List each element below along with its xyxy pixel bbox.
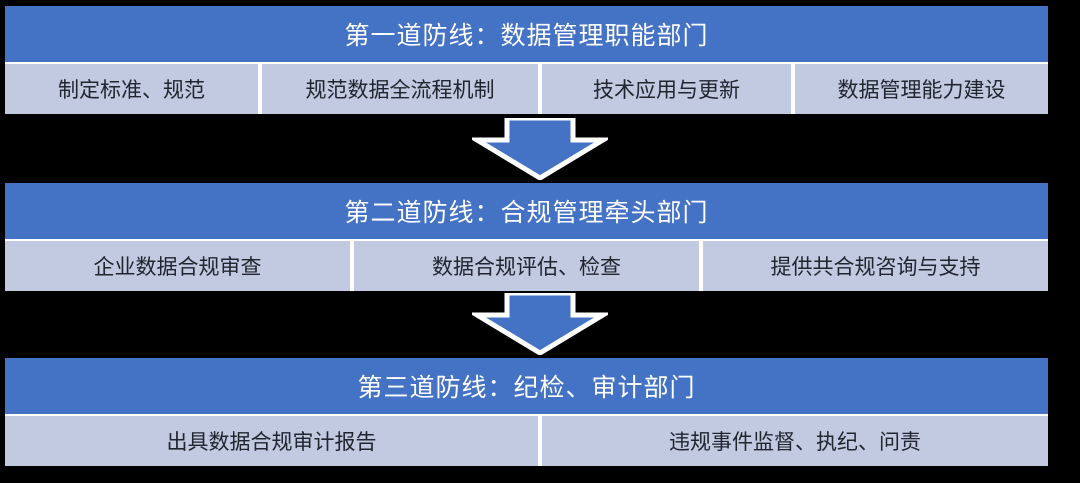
item-issue-data-compliance-audit-report: 出具数据合规审计报告 bbox=[5, 416, 538, 466]
defense-line-3-items: 出具数据合规审计报告 违规事件监督、执纪、问责 bbox=[5, 414, 1048, 466]
arrow-down-icon-1 bbox=[472, 118, 608, 180]
diagram-canvas: 第一道防线：数据管理职能部门 制定标准、规范 规范数据全流程机制 技术应用与更新… bbox=[0, 0, 1080, 483]
defense-line-2-items: 企业数据合规审查 数据合规评估、检查 提供共合规咨询与支持 bbox=[5, 239, 1048, 291]
defense-line-2-band: 第二道防线：合规管理牵头部门 bbox=[5, 183, 1048, 239]
item-data-compliance-assessment-inspection: 数据合规评估、检查 bbox=[354, 241, 699, 291]
item-standardize-data-lifecycle: 规范数据全流程机制 bbox=[262, 64, 538, 114]
item-enterprise-data-compliance-review: 企业数据合规审查 bbox=[5, 241, 350, 291]
item-technology-application-update: 技术应用与更新 bbox=[542, 64, 791, 114]
defense-line-section-1: 第一道防线：数据管理职能部门 制定标准、规范 规范数据全流程机制 技术应用与更新… bbox=[5, 6, 1048, 114]
defense-line-3-band: 第三道防线：纪检、审计部门 bbox=[5, 358, 1048, 414]
defense-line-1-items: 制定标准、规范 规范数据全流程机制 技术应用与更新 数据管理能力建设 bbox=[5, 62, 1048, 114]
item-violation-supervision-discipline-accountability: 违规事件监督、执纪、问责 bbox=[542, 416, 1048, 466]
arrow-down-icon-2 bbox=[472, 293, 608, 355]
defense-line-1-band: 第一道防线：数据管理职能部门 bbox=[5, 6, 1048, 62]
item-establish-standards: 制定标准、规范 bbox=[5, 64, 258, 114]
item-provide-compliance-consulting-support: 提供共合规咨询与支持 bbox=[703, 241, 1048, 291]
defense-line-section-2: 第二道防线：合规管理牵头部门 企业数据合规审查 数据合规评估、检查 提供共合规咨… bbox=[5, 183, 1048, 291]
item-data-management-capability: 数据管理能力建设 bbox=[795, 64, 1048, 114]
defense-line-section-3: 第三道防线：纪检、审计部门 出具数据合规审计报告 违规事件监督、执纪、问责 bbox=[5, 358, 1048, 466]
